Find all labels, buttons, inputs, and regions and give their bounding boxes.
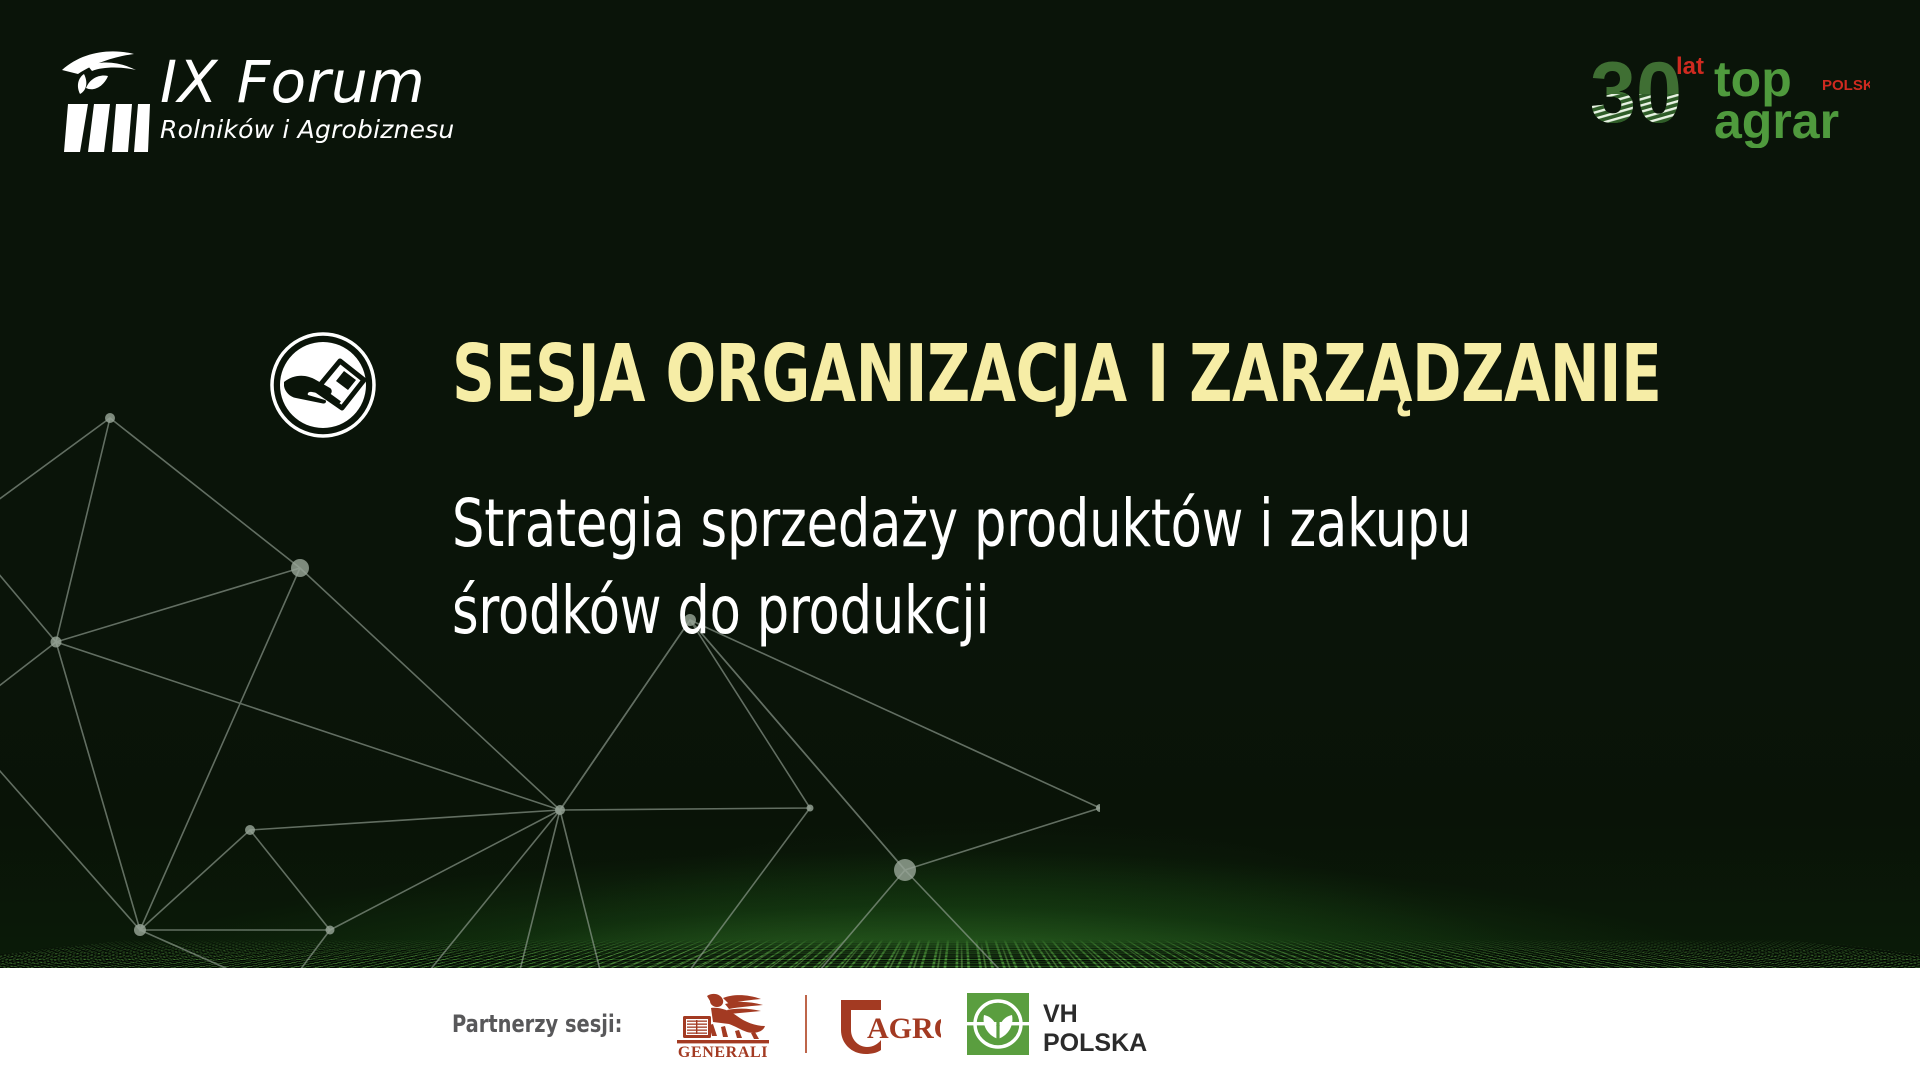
partner-logo-generali[interactable]: GENERALI — [667, 988, 779, 1060]
partner-logo-vh-polska[interactable]: VH POLSKA — [967, 991, 1159, 1057]
forum-logo-title: IX Forum — [160, 54, 454, 111]
page-subtitle-line-2: środków do produkcji — [452, 567, 1471, 654]
page-title: SESJA ORGANIZACJA I ZARZĄDZANIE — [452, 335, 1661, 414]
partner-divider — [805, 995, 807, 1053]
vh-wordmark-line2: POLSKA — [1043, 1029, 1147, 1057]
vh-polska-leaf-icon — [967, 993, 1029, 1055]
forum-logo: IX Forum Rolników i Agrobiznesu — [58, 40, 454, 152]
svg-text:30: 30 — [1590, 45, 1682, 141]
hand-holding-card-icon — [268, 330, 378, 440]
presentation-slide: IX Forum Rolników i Agrobiznesu 30 — [0, 0, 1920, 1080]
svg-text:lat: lat — [1676, 53, 1704, 80]
top-agrar-logo: 30 30 lat top agrar POLSKA — [1590, 44, 1870, 148]
generali-wordmark: GENERALI — [678, 1044, 768, 1060]
forum-logo-subtitle: Rolników i Agrobiznesu — [160, 115, 454, 144]
vh-wordmark-line1: VH — [1043, 1000, 1078, 1028]
page-subtitle-line-1: Strategia sprzedaży produktów i zakupu — [452, 480, 1471, 567]
wheat-ear-icon — [58, 40, 154, 152]
generali-winged-lion-icon — [677, 994, 769, 1043]
partners-label: Partnerzy sesji: — [452, 1010, 622, 1038]
agro-wordmark: AGRO — [867, 1012, 941, 1045]
partner-logo-agro[interactable]: AGRO — [833, 992, 941, 1056]
partners-footer: Partnerzy sesji: — [0, 968, 1920, 1080]
agrar-number-30: 30 30 — [1590, 45, 1686, 141]
page-subtitle: Strategia sprzedaży produktów i zakupu ś… — [452, 480, 1471, 654]
svg-text:agrar: agrar — [1714, 93, 1839, 148]
svg-text:POLSKA: POLSKA — [1822, 77, 1870, 94]
